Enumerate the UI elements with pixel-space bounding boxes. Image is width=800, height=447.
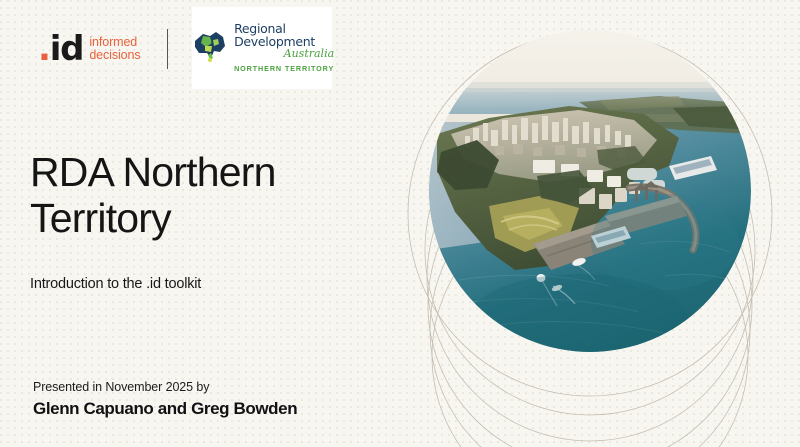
rda-script-australia: Australia [234, 48, 334, 60]
id-tagline-line2: decisions [89, 49, 140, 62]
headline-block: RDA NorthernTerritory Introduction to th… [30, 150, 360, 292]
rda-region-northern-territory: NORTHERN TERRITORY [234, 64, 334, 73]
presenter-names: Glenn Capuano and Greg Bowden [33, 399, 393, 419]
regional-development-australia-logo: Regional Development Australia NORTHERN … [192, 7, 332, 89]
presented-date-label: Presented in November 2025 by [33, 380, 393, 394]
id-tagline: informed decisions [89, 36, 140, 62]
page-subtitle: Introduction to the .id toolkit [30, 276, 360, 292]
logo-bar: .id informed decisions Regional [38, 18, 332, 80]
page-title-line1: RDA Northern [30, 149, 276, 195]
australia-map-icon [190, 27, 230, 67]
presenter-block: Presented in November 2025 by Glenn Capu… [33, 380, 393, 419]
id-letters: id [50, 29, 84, 69]
page-title-line2: Territory [30, 195, 171, 241]
hero-photo-darwin-waterfront [429, 30, 751, 352]
title-slide: .id informed decisions Regional [0, 0, 800, 447]
id-informed-decisions-logo: .id informed decisions [38, 32, 141, 66]
logo-divider [167, 29, 169, 69]
id-dot-icon: . [38, 29, 50, 69]
page-title: RDA NorthernTerritory [30, 150, 360, 242]
id-wordmark: .id [38, 33, 83, 65]
